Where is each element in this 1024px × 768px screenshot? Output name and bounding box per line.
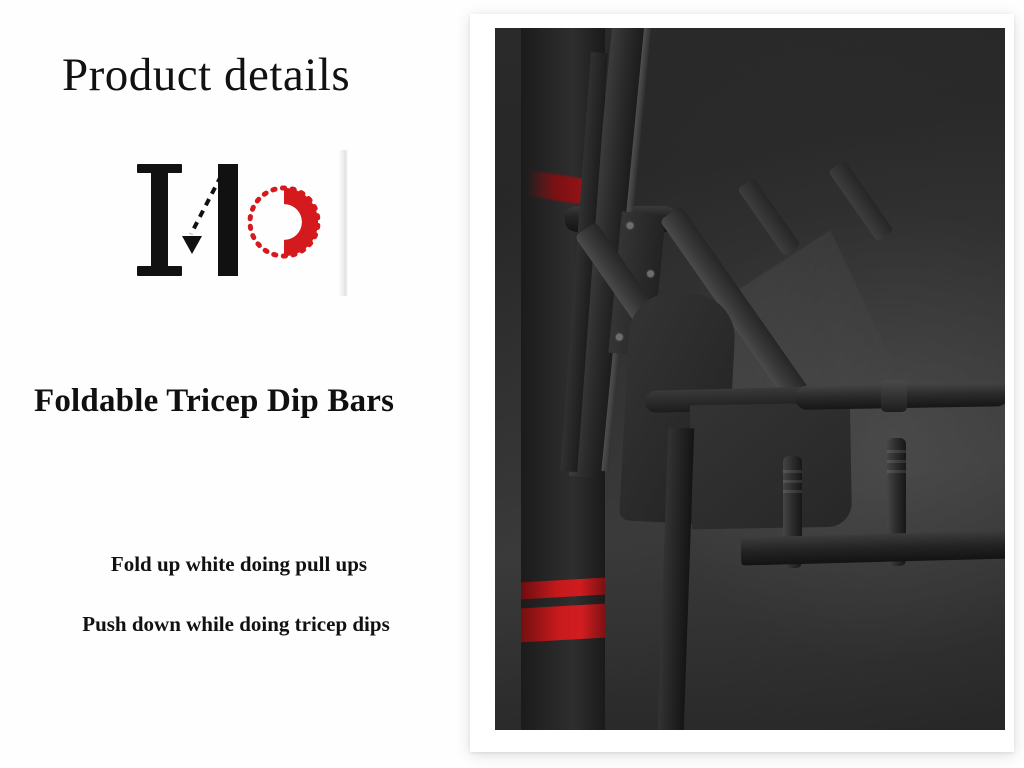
red-band-lower [521,604,605,643]
logo-letter-g-icon [245,166,323,278]
product-photo [495,28,1005,730]
logo-mark [133,158,323,283]
logo-letter-i-icon [137,164,183,276]
logo-letter-m-bar-icon [218,164,238,276]
pad-plate [690,403,852,530]
text-column: Product details [0,0,470,768]
product-photo-card [470,14,1014,752]
feature-line: Push down while doing tricep dips [0,612,470,637]
product-details-page: Product details [0,0,1024,768]
feature-line: Fold up white doing pull ups [0,552,470,577]
feature-list: Fold up white doing pull ups Push down w… [0,552,470,637]
logo-card-edge [338,150,348,296]
page-title: Product details [62,48,350,102]
product-name-heading: Foldable Tricep Dip Bars [34,383,394,420]
grip-bar-collar [881,380,907,412]
brand-logo [133,158,348,298]
